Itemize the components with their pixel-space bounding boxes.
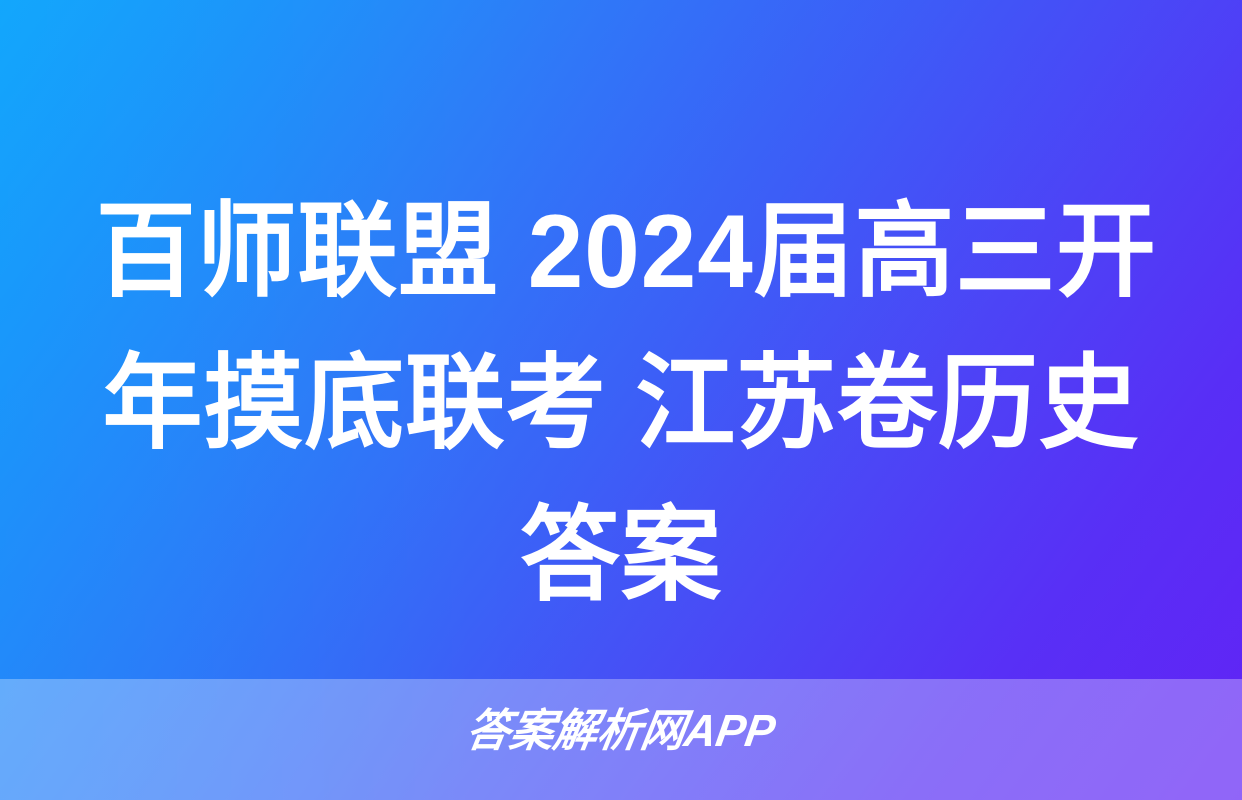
footer-band: [0, 679, 1242, 800]
title-line-1: 百师联盟 2024届高三开: [96, 176, 1146, 328]
title-line-2: 年摸底联考 江苏卷历史: [96, 328, 1146, 480]
title-line-3: 答案: [96, 480, 1146, 632]
share-card: 百师联盟 2024届高三开 年摸底联考 江苏卷历史 答案 答案解析网APP: [0, 0, 1242, 800]
card-title-block: 百师联盟 2024届高三开 年摸底联考 江苏卷历史 答案: [0, 176, 1242, 632]
